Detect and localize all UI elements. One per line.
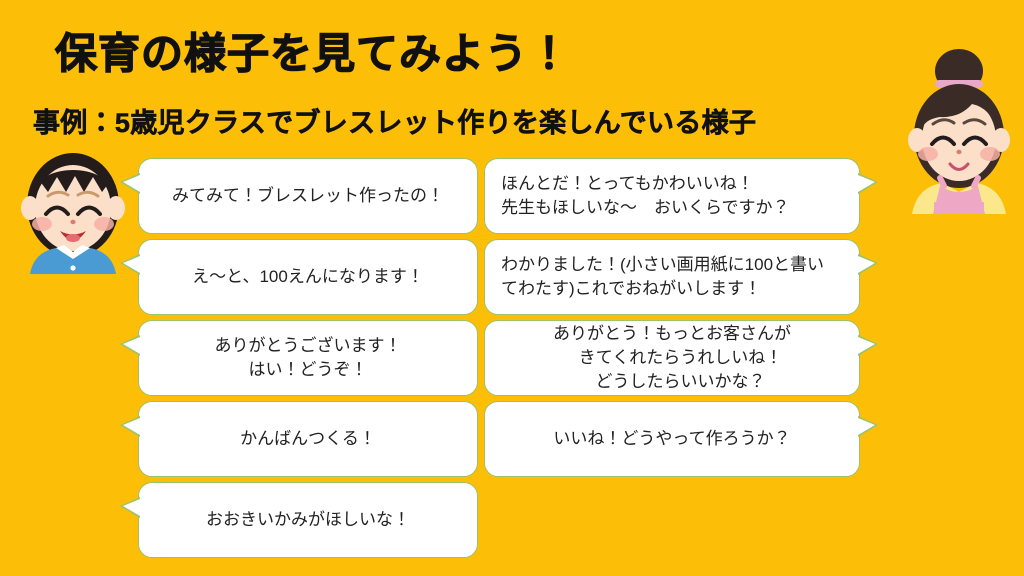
speech-bubble-teacher-2: わかりました！(小さい画用紙に100と書い てわたす)これでおねがいします！: [484, 239, 860, 315]
speech-bubble-text: かんばんつくる！: [155, 427, 461, 451]
child-avatar-graphic: [14, 142, 132, 274]
speech-bubble-text: ほんとだ！とってもかわいいね！ 先生もほしいな〜 おいくらですか？: [501, 172, 843, 220]
bubble-tail-fill-icon: [858, 337, 875, 354]
speech-bubble-child-4: かんばんつくる！: [138, 401, 478, 477]
speech-bubble-text: いいね！どうやって作ろうか？: [501, 427, 843, 451]
bubble-tail-fill-icon: [858, 418, 875, 435]
speech-bubble-teacher-4: いいね！どうやって作ろうか？: [484, 401, 860, 477]
teacher-avatar: [900, 36, 1018, 219]
speech-bubble-child-3: ありがとうございます！ はい！どうぞ！: [138, 320, 478, 396]
bubble-tail-fill-icon: [123, 418, 140, 435]
speech-bubble-text: ありがとうございます！ はい！どうぞ！: [155, 334, 461, 382]
child-avatar: [14, 142, 132, 279]
page-subtitle: 事例：5歳児クラスでブレスレット作りを楽しんでいる様子: [33, 101, 756, 140]
speech-bubble-text: え〜と、100えんになります！: [155, 265, 461, 289]
speech-bubble-text: おおきいかみがほしいな！: [155, 508, 461, 532]
bubble-tail-fill-icon: [858, 175, 875, 192]
bubble-tail-fill-icon: [858, 256, 875, 273]
speech-bubble-teacher-1: ほんとだ！とってもかわいいね！ 先生もほしいな〜 おいくらですか？: [484, 158, 860, 234]
bubble-tail-fill-icon: [123, 256, 140, 273]
bubble-tail-fill-icon: [123, 337, 140, 354]
page-title: 保育の様子を見てみよう！: [55, 31, 571, 77]
speech-bubble-child-5: おおきいかみがほしいな！: [138, 482, 478, 558]
bubble-tail-fill-icon: [123, 175, 140, 192]
slide-canvas: 保育の様子を見てみよう！ 事例：5歳児クラスでブレスレット作りを楽しんでいる様子: [0, 0, 1024, 576]
speech-bubble-child-2: え〜と、100えんになります！: [138, 239, 478, 315]
speech-bubble-text: ありがとう！もっとお客さんが きてくれたらうれしいね！ どうしたらいいかな？: [501, 322, 843, 394]
bubble-tail-fill-icon: [123, 499, 140, 516]
speech-bubble-text: わかりました！(小さい画用紙に100と書い てわたす)これでおねがいします！: [501, 253, 843, 301]
speech-bubble-child-1: みてみて！ブレスレット作ったの！: [138, 158, 478, 234]
teacher-avatar-graphic: [900, 36, 1018, 214]
speech-bubble-teacher-3: ありがとう！もっとお客さんが きてくれたらうれしいね！ どうしたらいいかな？: [484, 320, 860, 396]
speech-bubble-text: みてみて！ブレスレット作ったの！: [155, 184, 461, 208]
